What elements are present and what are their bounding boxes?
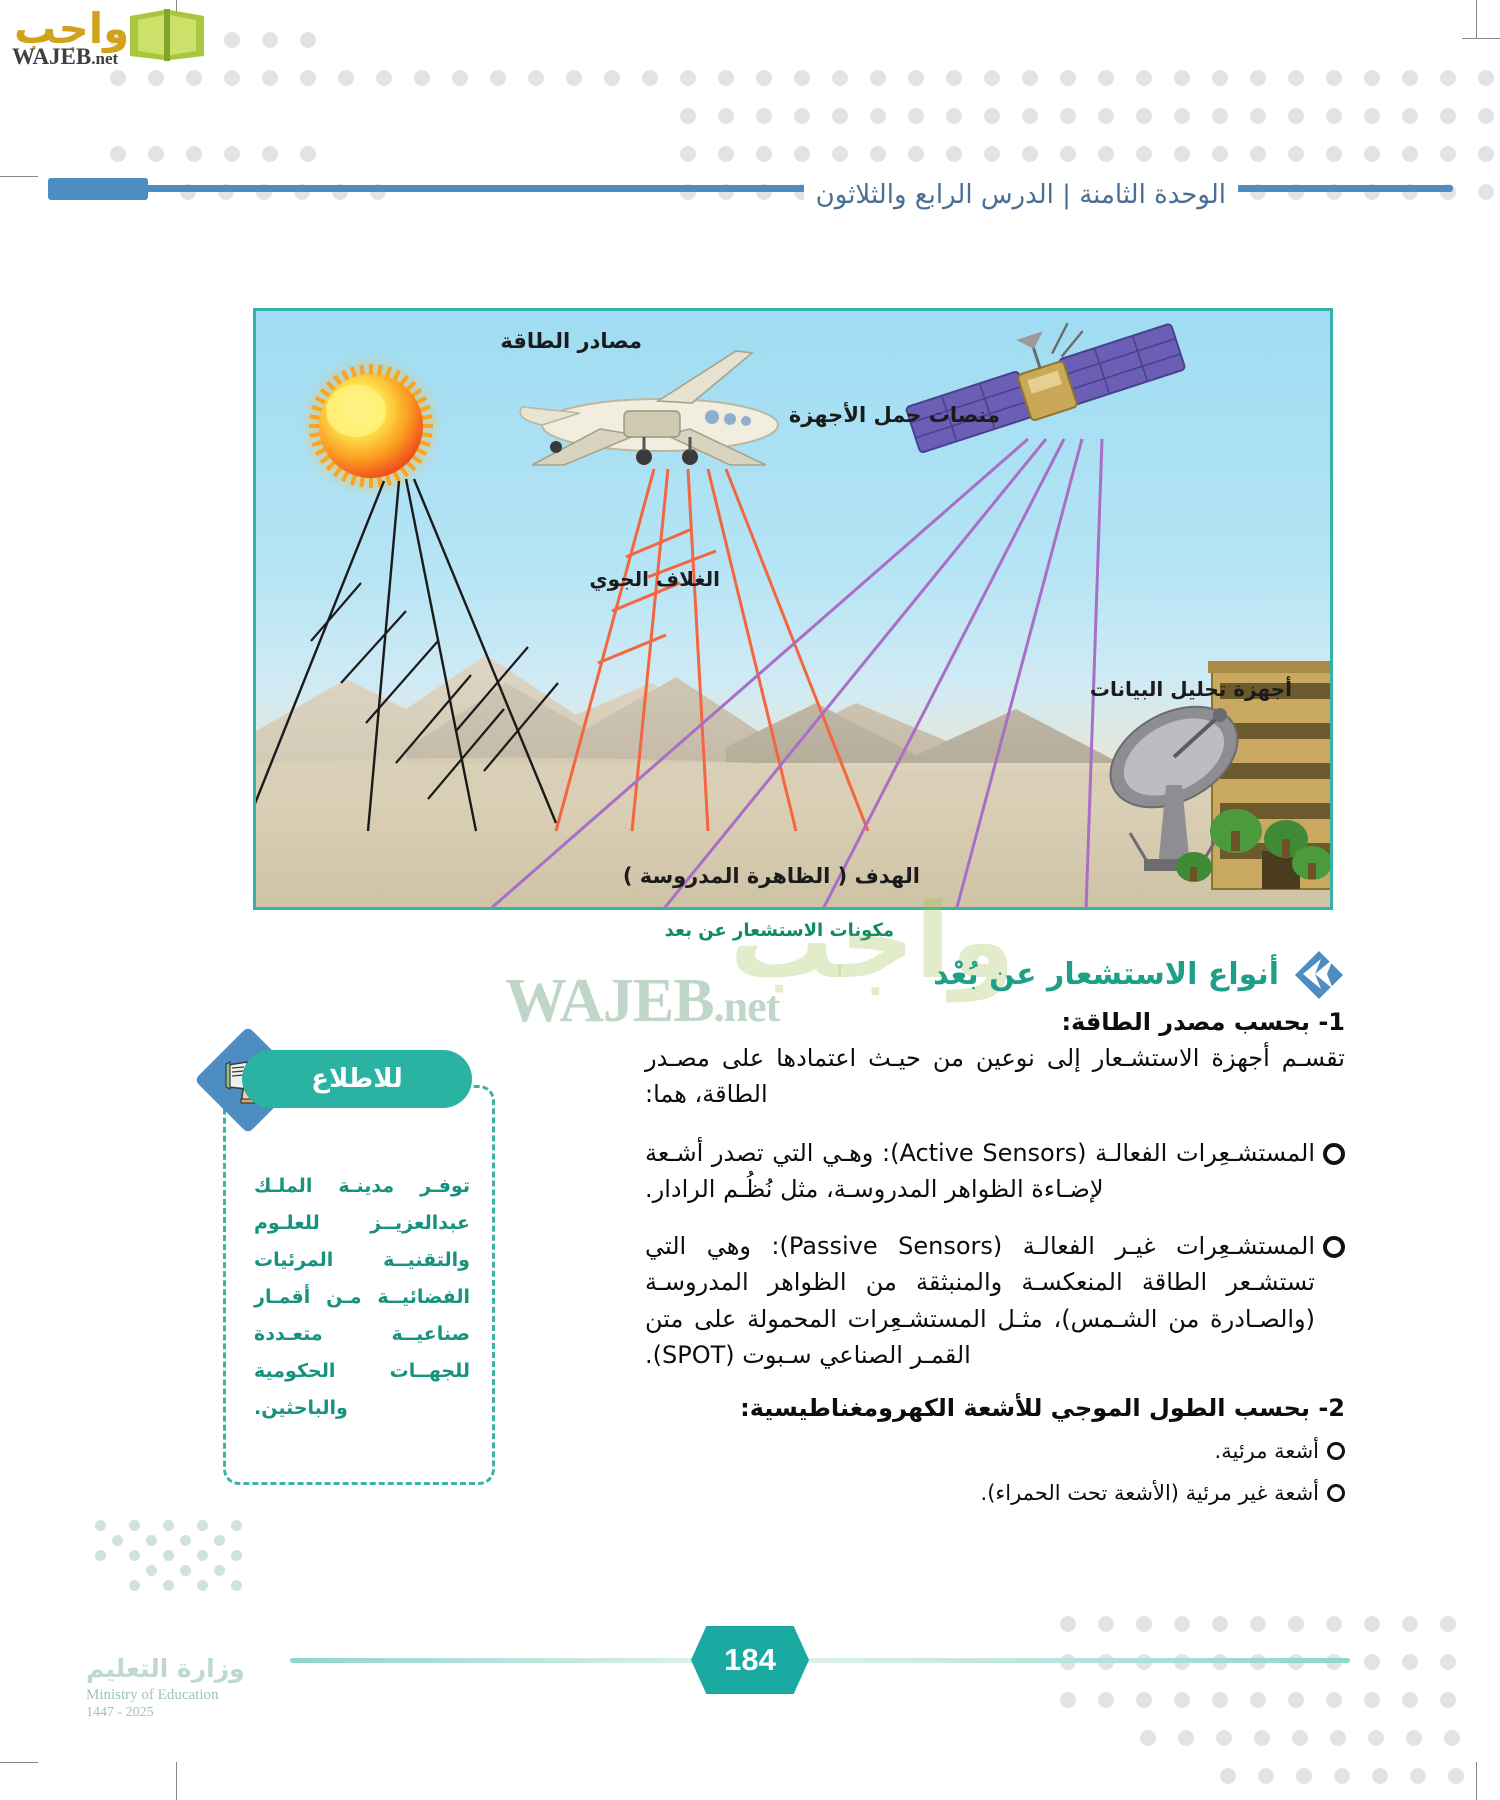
list-item: أشعة مرئية. xyxy=(645,1436,1345,1468)
logo-latin-text: WAJEB.net xyxy=(12,44,118,70)
header-tab-marker xyxy=(48,178,148,200)
section-heading: أنواع الاستشعار عن بُعْد xyxy=(933,948,1345,1000)
diagram-graphics xyxy=(256,311,1330,907)
list-item: أشعة غير مرئية (الأشعة تحت الحمراء). xyxy=(645,1478,1345,1510)
open-book-icon xyxy=(126,6,208,64)
crop-mark-left xyxy=(0,176,38,177)
breadcrumb: الوحدة الثامنة | الدرس الرابع والثلاثون xyxy=(804,180,1238,210)
ministry-year: 2025 - 1447 xyxy=(86,1705,316,1721)
invisible-rays-text: أشعة غير مرئية (الأشعة تحت الحمراء). xyxy=(981,1478,1319,1510)
ministry-english-name: Ministry of Education xyxy=(86,1685,316,1705)
active-sensors-text: المستشـعِرات الفعالـة (Active Sensors): … xyxy=(645,1135,1315,1208)
list-item: المستشـعِرات الفعالـة (Active Sensors): … xyxy=(645,1135,1345,1208)
visible-rays-text: أشعة مرئية. xyxy=(1215,1436,1319,1468)
site-logo[interactable]: واجب WAJEB.net xyxy=(8,4,208,66)
figure-label-atmosphere: الغلاف الجوي xyxy=(589,567,720,591)
crop-mark-right xyxy=(1462,38,1500,39)
bullet-circle-icon xyxy=(1327,1484,1345,1502)
subsection-2-heading: 2- بحسب الطول الموجي للأشعة الكهرومغناطي… xyxy=(645,1394,1345,1422)
figure-caption: مكونات الاستشعار عن بعد xyxy=(665,920,894,941)
decorative-dot-grid-top xyxy=(0,0,1500,200)
aside-badge-label: للاطلاع xyxy=(311,1064,403,1094)
ministry-of-education-logo: وزارة التعليم Ministry of Education 2025… xyxy=(86,1655,316,1721)
page-number-badge: 184 xyxy=(691,1626,809,1694)
passive-sensors-text: المستشـعِرات غيـر الفعالـة (Passive Sens… xyxy=(645,1228,1315,1374)
subsection-1-heading: 1- بحسب مصدر الطاقة: xyxy=(645,1008,1345,1036)
footer-rule-left xyxy=(290,1658,710,1663)
lesson-body: 1- بحسب مصدر الطاقة: تقسـم أجهزة الاستشـ… xyxy=(645,1008,1345,1520)
figure-label-energy-sources: مصادر الطاقة xyxy=(500,329,642,353)
figure-label-platforms: منصات حمل الأجهزة xyxy=(789,403,1000,427)
figure-label-target: الهدف ( الظاهرة المدروسة ) xyxy=(623,864,920,888)
ministry-arabic-name: وزارة التعليم xyxy=(86,1655,316,1683)
header-rule xyxy=(48,185,1453,192)
aside-badge-pill: للاطلاع xyxy=(242,1050,472,1108)
chevron-diamond-icon xyxy=(1291,947,1345,1001)
bullet-circle-icon xyxy=(1327,1442,1345,1460)
subsection-1-paragraph: تقسـم أجهزة الاستشـعار إلى نوعين من حيـث… xyxy=(645,1040,1345,1113)
decorative-dot-grid-footer xyxy=(95,1520,255,1600)
aside-info-text: توفـر مدينـة الملـك عبدالعزيــز للعلـوم … xyxy=(254,1168,470,1427)
crop-mark-top-right xyxy=(1476,0,1477,38)
page-number: 184 xyxy=(724,1642,776,1678)
crop-mark-bottom-left xyxy=(176,1762,177,1800)
crop-mark-bottom-rule xyxy=(0,1762,38,1763)
crop-mark-bottom-right xyxy=(1476,1762,1477,1800)
bullet-circle-icon xyxy=(1323,1236,1345,1258)
bullet-circle-icon xyxy=(1323,1143,1345,1165)
figure-label-data-analysis: أجهزة تحليل البيانات xyxy=(1090,677,1292,701)
section-title-text: أنواع الاستشعار عن بُعْد xyxy=(933,957,1279,992)
footer-rule-right xyxy=(795,1658,1350,1663)
aside-badge: للاطلاع xyxy=(210,1042,500,1118)
remote-sensing-diagram: مصادر الطاقة منصات حمل الأجهزة الغلاف ال… xyxy=(253,308,1333,910)
list-item: المستشـعِرات غيـر الفعالـة (Passive Sens… xyxy=(645,1228,1345,1374)
